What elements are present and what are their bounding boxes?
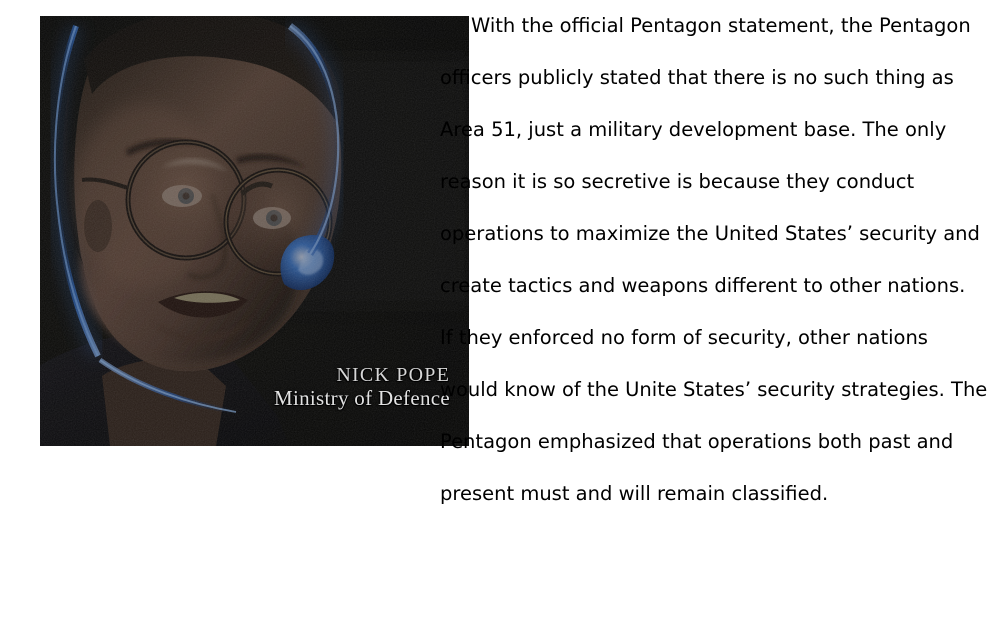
paragraph-line: reason it is so secretive is because the… bbox=[440, 156, 950, 208]
paragraph-line: If they enforced no form of security, ot… bbox=[440, 312, 950, 364]
paragraph-line: With the official Pentagon statement, th… bbox=[440, 0, 950, 52]
interview-photo-image bbox=[40, 16, 469, 446]
paragraph-line: officers publicly stated that there is n… bbox=[440, 52, 950, 104]
paragraph-line: Area 51, just a military development bas… bbox=[440, 104, 950, 156]
paragraph-line: Pentagon emphasized that operations both… bbox=[440, 416, 950, 468]
paragraph-line: create tactics and weapons different to … bbox=[440, 260, 950, 312]
paragraph-line: present must and will remain classified. bbox=[440, 468, 950, 520]
photo-vignette bbox=[40, 16, 469, 446]
paragraph-line: would know of the Unite States’ security… bbox=[440, 364, 950, 416]
interview-photo: NICK POPE Ministry of Defence bbox=[40, 16, 469, 446]
body-paragraph: With the official Pentagon statement, th… bbox=[440, 0, 950, 520]
paragraph-line: operations to maximize the United States… bbox=[440, 208, 950, 260]
